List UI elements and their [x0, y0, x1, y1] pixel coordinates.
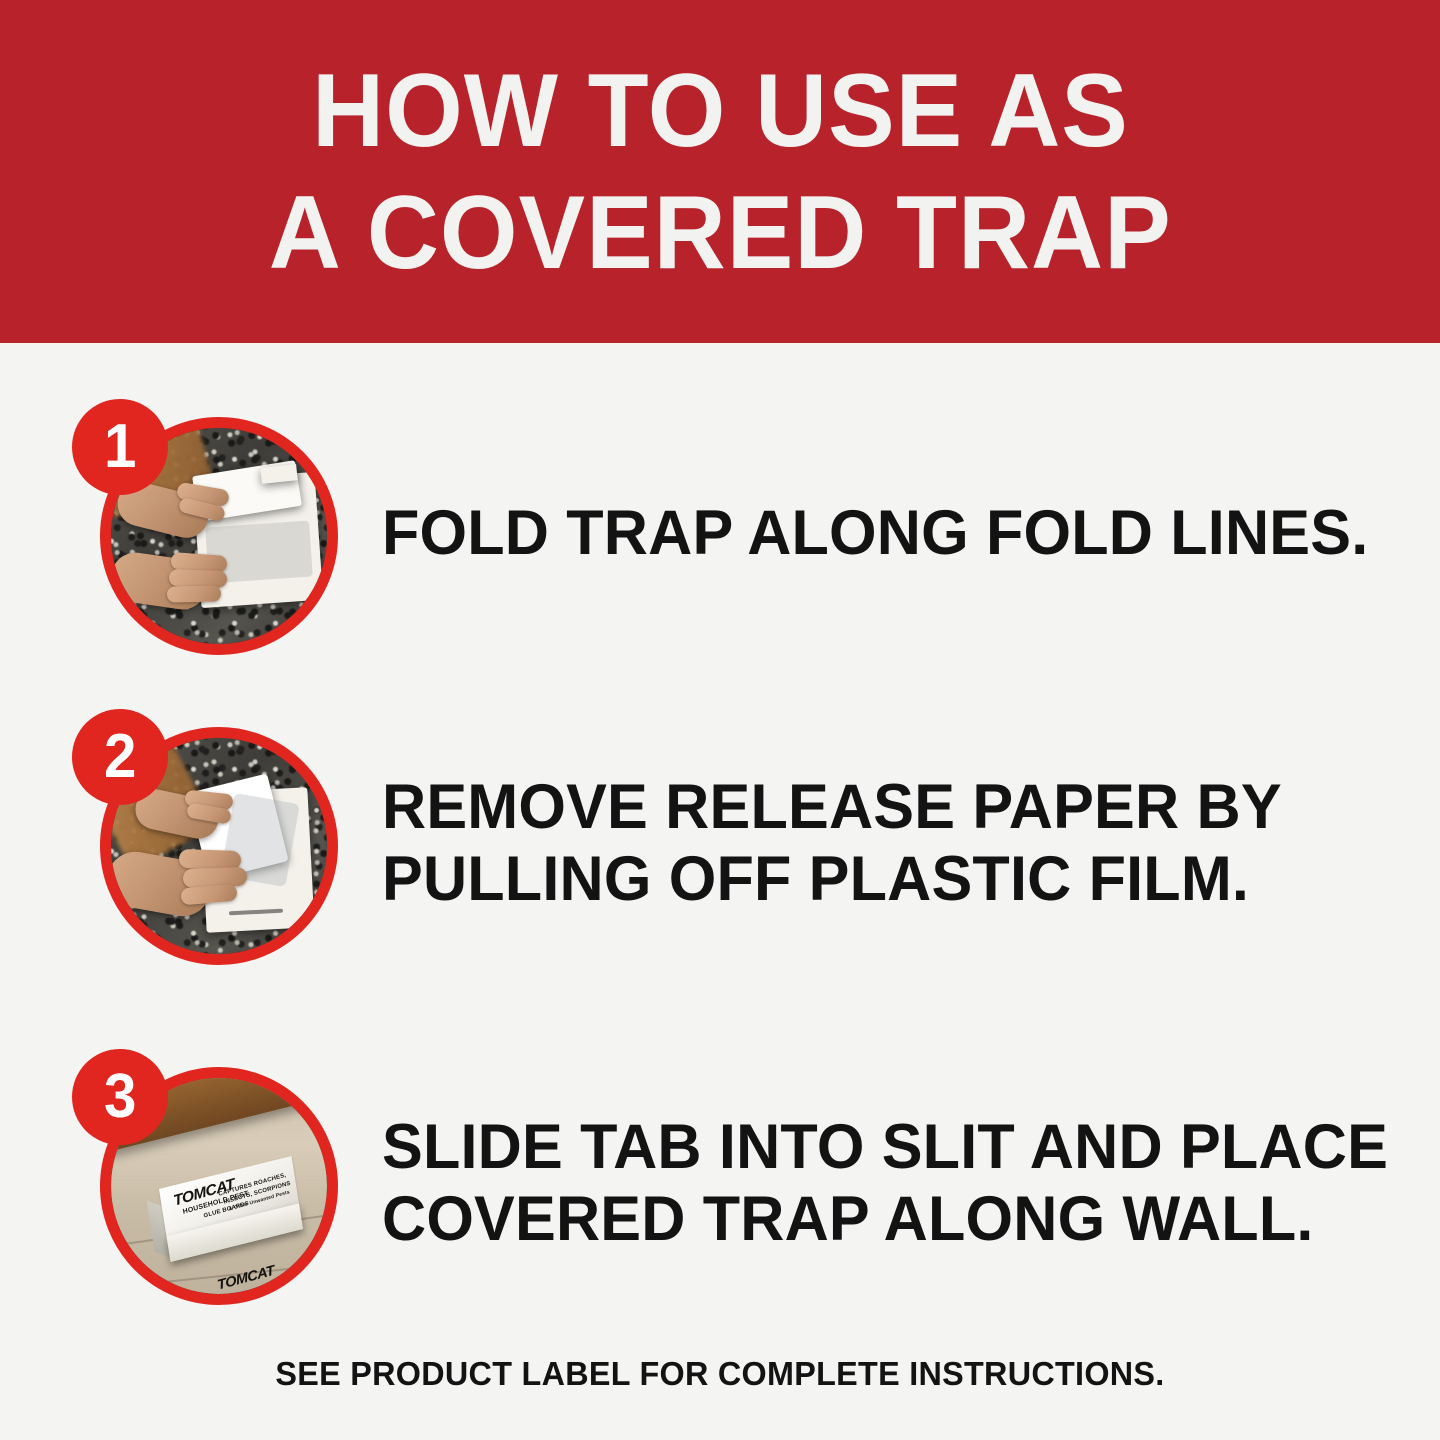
step-2-number: 2: [104, 726, 136, 788]
step-item-2: 2 REMOVE RELEASE PAPER BY PULLING OFF PL…: [0, 693, 1440, 993]
page-title-line-2: A COVERED TRAP: [269, 181, 1172, 285]
step-1-badge: 1: [72, 399, 168, 495]
how-to-use-poster: HOW TO USE AS A COVERED TRAP: [0, 0, 1440, 1440]
page-title-line-1: HOW TO USE AS: [312, 59, 1129, 163]
header-banner: HOW TO USE AS A COVERED TRAP: [0, 0, 1440, 343]
step-3-badge: 3: [72, 1049, 168, 1145]
step-3-number: 3: [104, 1066, 136, 1128]
step-2-line-1: REMOVE RELEASE PAPER BY: [382, 771, 1340, 843]
step-1-visual: 1: [72, 399, 340, 667]
step-3-line-2: COVERED TRAP ALONG WALL.: [382, 1183, 1388, 1255]
step-2-visual: 2: [72, 709, 340, 977]
step-item-3: TOMCAT HOUSEHOLD PEST GLUE BOARDS CAPTUR…: [0, 1033, 1440, 1333]
step-2-text: REMOVE RELEASE PAPER BY PULLING OFF PLAS…: [340, 771, 1440, 915]
step-1-number: 1: [104, 416, 136, 478]
step-1-line-1: FOLD TRAP ALONG FOLD LINES.: [382, 497, 1368, 569]
step-3-line-1: SLIDE TAB INTO SLIT AND PLACE: [382, 1111, 1388, 1183]
step-3-visual: TOMCAT HOUSEHOLD PEST GLUE BOARDS CAPTUR…: [72, 1049, 340, 1317]
finger-lower-3: [167, 586, 221, 603]
steps-list: 1 FOLD TRAP ALONG FOLD LINES.: [0, 343, 1440, 1328]
step-2-badge: 2: [72, 709, 168, 805]
step-3-text: SLIDE TAB INTO SLIT AND PLACE COVERED TR…: [340, 1111, 1440, 1255]
step-1-text: FOLD TRAP ALONG FOLD LINES.: [340, 497, 1440, 569]
footer-disclaimer: SEE PRODUCT LABEL FOR COMPLETE INSTRUCTI…: [14, 1355, 1425, 1393]
step-2-line-2: PULLING OFF PLASTIC FILM.: [382, 843, 1340, 915]
step-item-1: 1 FOLD TRAP ALONG FOLD LINES.: [0, 383, 1440, 683]
